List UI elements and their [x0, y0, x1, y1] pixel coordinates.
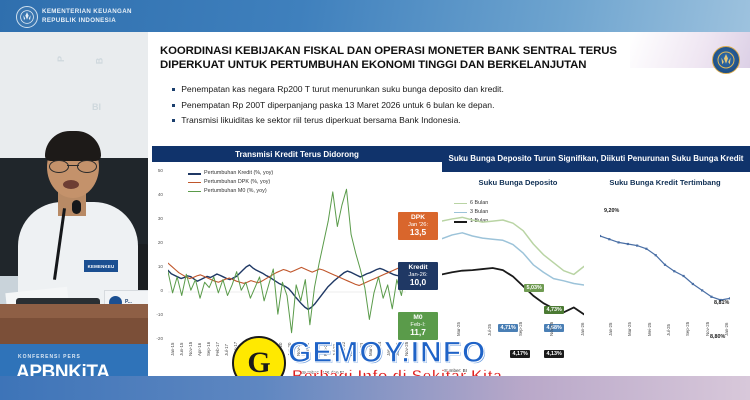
left-panel-header: Transmisi Kredit Terus Didorong: [152, 146, 442, 162]
right-panel-header: Suku Bunga Deposito Turun Signifikan, Di…: [442, 146, 750, 172]
x-tick: Des-22: [341, 342, 346, 356]
x-tick: Sep-16: [206, 342, 211, 356]
data-label-4-17: 4,17%: [510, 350, 530, 358]
speaker-video-feed: P B BI KEMENKEU P...: [0, 32, 148, 344]
x-tick: Nov-25: [705, 322, 710, 336]
speaker-glasses-icon: [49, 160, 97, 171]
bullet-item: Penempatan kas negara Rp200 T turut menu…: [172, 84, 728, 95]
data-label-8-81: 8,81%: [714, 300, 729, 306]
x-tick: Nov-25: [404, 342, 409, 356]
right-chart-source: Sumber: BI: [444, 368, 467, 373]
slide-title: KOORDINASI KEBIJAKAN FISKAL DAN OPERASI …: [160, 44, 680, 72]
bullet-marker-icon: [172, 88, 175, 91]
program-kicker: KONFERENSI PERS: [18, 354, 81, 360]
legend-item: Pertumbuhan DPK (%, yoy): [188, 179, 273, 186]
x-tick: Jul-22: [332, 344, 337, 356]
callout-label: Kredit: [398, 264, 438, 272]
x-tick: Des-17: [233, 342, 238, 356]
left-chart-legend: Pertumbuhan Kredit (%, yoy) Pertumbuhan …: [188, 170, 273, 197]
kredit-subtitle: Suku Bunga Kredit Tertimbang: [600, 178, 730, 188]
x-tick: Mei-23: [350, 343, 355, 356]
data-label-5-03: 5,03%: [524, 284, 544, 292]
y-tick: 30: [152, 216, 163, 221]
callout-value: 11,7: [398, 329, 438, 337]
y-tick: 50: [152, 168, 163, 173]
y-tick: 40: [152, 192, 163, 197]
screenshot-root: KEMENTERIAN KEUANGAN REPUBLIK INDONESIA …: [0, 0, 750, 400]
bullet-text: Penempatan kas negara Rp200 T turut menu…: [181, 84, 504, 95]
x-tick: Jan-26: [580, 323, 585, 336]
x-tick: Jan-25: [386, 343, 391, 356]
chart-suku-bunga: Suku Bunga Deposito Suku Bunga Kredit Te…: [442, 178, 742, 376]
left-chart-source: Sumber: OJK dan BI: [302, 370, 344, 375]
x-tick: Jul-17: [224, 344, 229, 356]
bullet-text: Transmisi likuiditas ke sektor riil teru…: [181, 115, 461, 126]
callout-label: DPK: [398, 214, 438, 222]
x-tick: Okt-18: [251, 343, 256, 356]
kemenkeu-seal-icon: [712, 46, 740, 74]
slide-bullet-list: Penempatan kas negara Rp200 T turut menu…: [172, 84, 728, 131]
callout-value: 10,0: [398, 279, 438, 287]
bullet-marker-icon: [172, 104, 175, 107]
y-tick: 10: [152, 264, 163, 269]
legend-label: Pertumbuhan Kredit (%, yoy): [204, 170, 273, 177]
y-tick: 20: [152, 240, 163, 245]
x-tick: Feb-17: [215, 342, 220, 356]
data-label-4-13: 4,13%: [544, 350, 564, 358]
x-tick: Agu-19: [269, 342, 274, 356]
x-tick: Okt-23: [359, 343, 364, 356]
y-tick: -20: [152, 336, 163, 341]
x-tick: Jun-15: [179, 343, 184, 356]
legend-item: Pertumbuhan Kredit (%, yoy): [188, 170, 273, 177]
x-tick: Apr-21: [305, 343, 310, 356]
x-tick: Jan-25: [608, 323, 613, 336]
ministry-header-bar: KEMENTERIAN KEUANGAN REPUBLIK INDONESIA: [0, 0, 750, 32]
x-tick: Mei-18: [242, 343, 247, 356]
callout-kredit: Kredit Jan-26: 10,0: [398, 262, 438, 290]
x-tick: Agu-24: [377, 342, 382, 356]
data-label-4-68: 4,68%: [544, 324, 564, 332]
deposito-subtitle: Suku Bunga Deposito: [448, 178, 588, 188]
kredit-plot: [600, 204, 730, 332]
x-tick: Feb-22: [323, 342, 328, 356]
x-tick: Mar-25: [456, 322, 461, 336]
desk-front: [0, 318, 148, 344]
x-tick: Jun-25: [395, 343, 400, 356]
x-tick: Apr-16: [197, 343, 202, 356]
x-tick: Nov-15: [188, 342, 193, 356]
data-label-4-71: 4,71%: [498, 324, 518, 332]
x-tick: Jul-25: [666, 324, 671, 336]
bullet-item: Penempatan Rp 200T diperpanjang paska 13…: [172, 100, 728, 111]
bullet-marker-icon: [172, 119, 175, 122]
x-tick: Sep-21: [314, 342, 319, 356]
ministry-seal-icon: [16, 6, 38, 28]
bullet-text: Penempatan Rp 200T diperpanjang paska 13…: [181, 100, 494, 111]
x-tick: Mar-24: [368, 342, 373, 356]
x-tick: Mar-19: [260, 342, 265, 356]
x-tick: Jun-20: [287, 343, 292, 356]
legend-label: Pertumbuhan DPK (%, yoy): [204, 179, 270, 186]
callout-label: M0: [398, 314, 438, 322]
x-tick: Mar-25: [627, 322, 632, 336]
background-text-decor: P: [56, 56, 66, 62]
x-tick: Sep-25: [685, 322, 690, 336]
x-tick: Jul-25: [487, 324, 492, 336]
x-tick: Mei-25: [647, 323, 652, 336]
bottom-gradient-strip: [0, 376, 750, 400]
x-tick: Jan-20: [278, 343, 283, 356]
x-tick: Jan-15: [170, 343, 175, 356]
x-tick: Nov-25: [549, 322, 554, 336]
presentation-slide: KOORDINASI KEBIJAKAN FISKAL DAN OPERASI …: [148, 32, 750, 376]
legend-item: Pertumbuhan M0 (%, yoy): [188, 188, 273, 195]
callout-value: 13,5: [398, 229, 438, 237]
speaker-mouth: [63, 180, 79, 189]
background-text-decor-3: BI: [92, 102, 101, 112]
y-tick: -10: [152, 312, 163, 317]
background-text-decor-2: B: [94, 58, 104, 65]
callout-dpk: DPK Jan '26: 13,5: [398, 212, 438, 240]
ministry-line-2: REPUBLIK INDONESIA: [42, 17, 132, 26]
x-tick: Sep-25: [518, 322, 523, 336]
legend-swatch-kredit: [188, 173, 201, 175]
callout-m0: M0 Feb-I: 11,7: [398, 312, 438, 340]
legend-swatch-dpk: [188, 182, 201, 183]
x-tick: Nov-20: [296, 342, 301, 356]
chart-transmisi-kredit: 50 40 30 20 10 0 -10 -20 Pertumbuhan Kre…: [152, 166, 434, 376]
bullet-item: Transmisi likuiditas ke sektor riil teru…: [172, 115, 728, 126]
data-label-9-20: 9,20%: [604, 208, 619, 214]
microphone-head-icon: [72, 200, 81, 214]
ministry-name: KEMENTERIAN KEUANGAN REPUBLIK INDONESIA: [42, 8, 132, 25]
data-label-4-73: 4,73%: [544, 306, 564, 314]
y-tick: 0: [152, 288, 163, 293]
legend-label: Pertumbuhan M0 (%, yoy): [204, 188, 267, 195]
data-label-8-80: 8,80%: [710, 334, 725, 340]
legend-swatch-m0: [188, 191, 201, 192]
x-tick: Jan-26: [724, 323, 729, 336]
speaker-badge: KEMENKEU: [84, 260, 118, 272]
ministry-line-1: KEMENTERIAN KEUANGAN: [42, 8, 132, 17]
